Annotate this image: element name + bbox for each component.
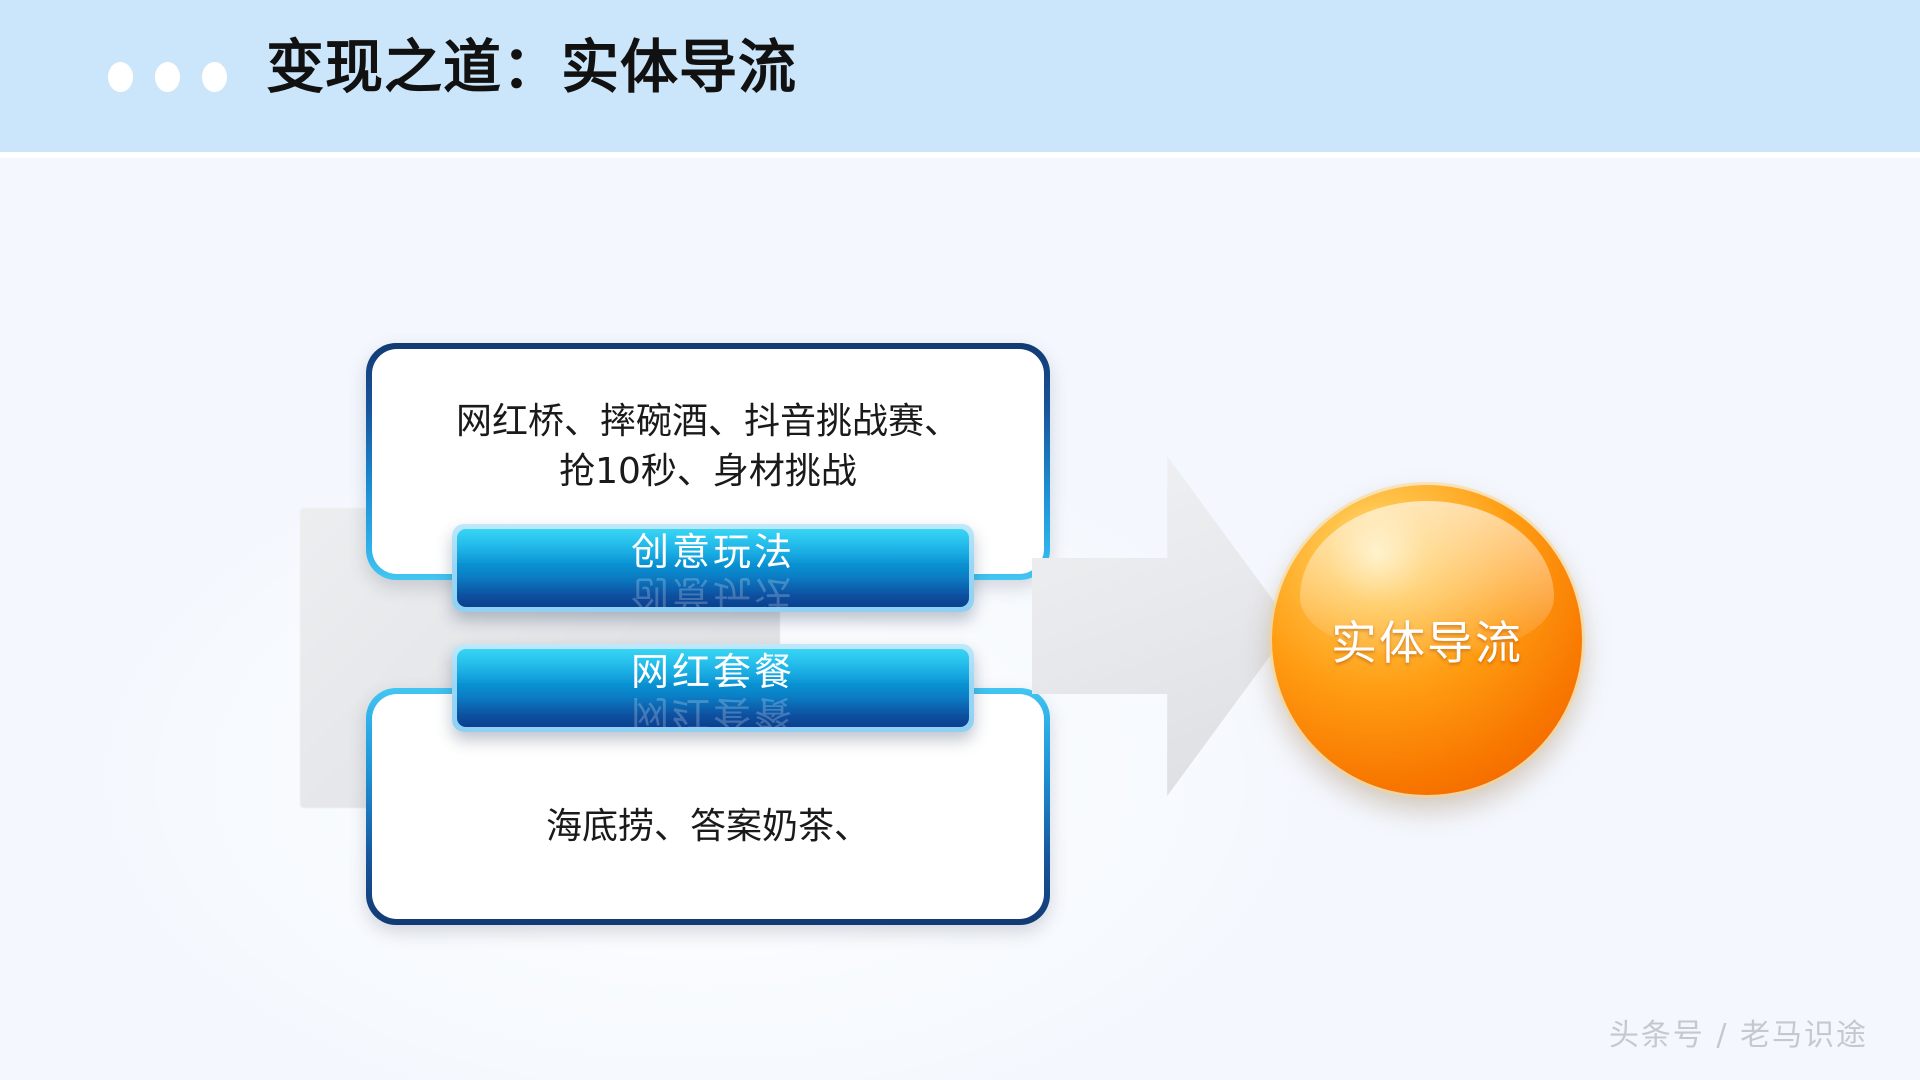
label-bar-influencer-set-reflection: 网红套餐	[457, 695, 969, 727]
creative-play-line-2: 抢10秒、身材挑战	[372, 447, 1044, 497]
page-title: 变现之道：实体导流	[266, 20, 797, 104]
label-bar-creative-play-text: 创意玩法	[457, 533, 969, 571]
creative-play-line-1: 网红桥、摔碗酒、抖音挑战赛、	[372, 397, 1044, 447]
influencer-set-line-1: 海底捞、答案奶茶、	[372, 802, 1044, 852]
result-circle-label: 实体导流	[1272, 485, 1582, 795]
header-dot-2	[155, 62, 180, 92]
label-bar-creative-play-inner: 创意玩法 创意玩法	[457, 529, 969, 607]
label-bar-creative-play[interactable]: 创意玩法 创意玩法	[452, 524, 974, 612]
label-bar-influencer-set[interactable]: 网红套餐 网红套餐	[452, 644, 974, 732]
header-dot-1	[108, 62, 133, 92]
creative-play-content-text: 网红桥、摔碗酒、抖音挑战赛、 抢10秒、身材挑战	[372, 397, 1044, 496]
influencer-set-content-text: 海底捞、答案奶茶、	[372, 802, 1044, 852]
result-circle: 实体导流	[1272, 485, 1582, 795]
slide-canvas: 变现之道：实体导流 网红桥、摔碗酒、抖音挑战赛、 抢10秒、身材挑战 海底捞、答…	[0, 0, 1920, 1080]
label-bar-influencer-set-text: 网红套餐	[457, 653, 969, 691]
header-dots-group	[108, 62, 227, 92]
label-bar-influencer-set-inner: 网红套餐 网红套餐	[457, 649, 969, 727]
footer-watermark: 头条号 / 老马识途	[1609, 1010, 1868, 1054]
slide-body-background	[0, 158, 1920, 1080]
header-dot-3	[202, 62, 227, 92]
label-bar-creative-play-reflection: 创意玩法	[457, 575, 969, 607]
